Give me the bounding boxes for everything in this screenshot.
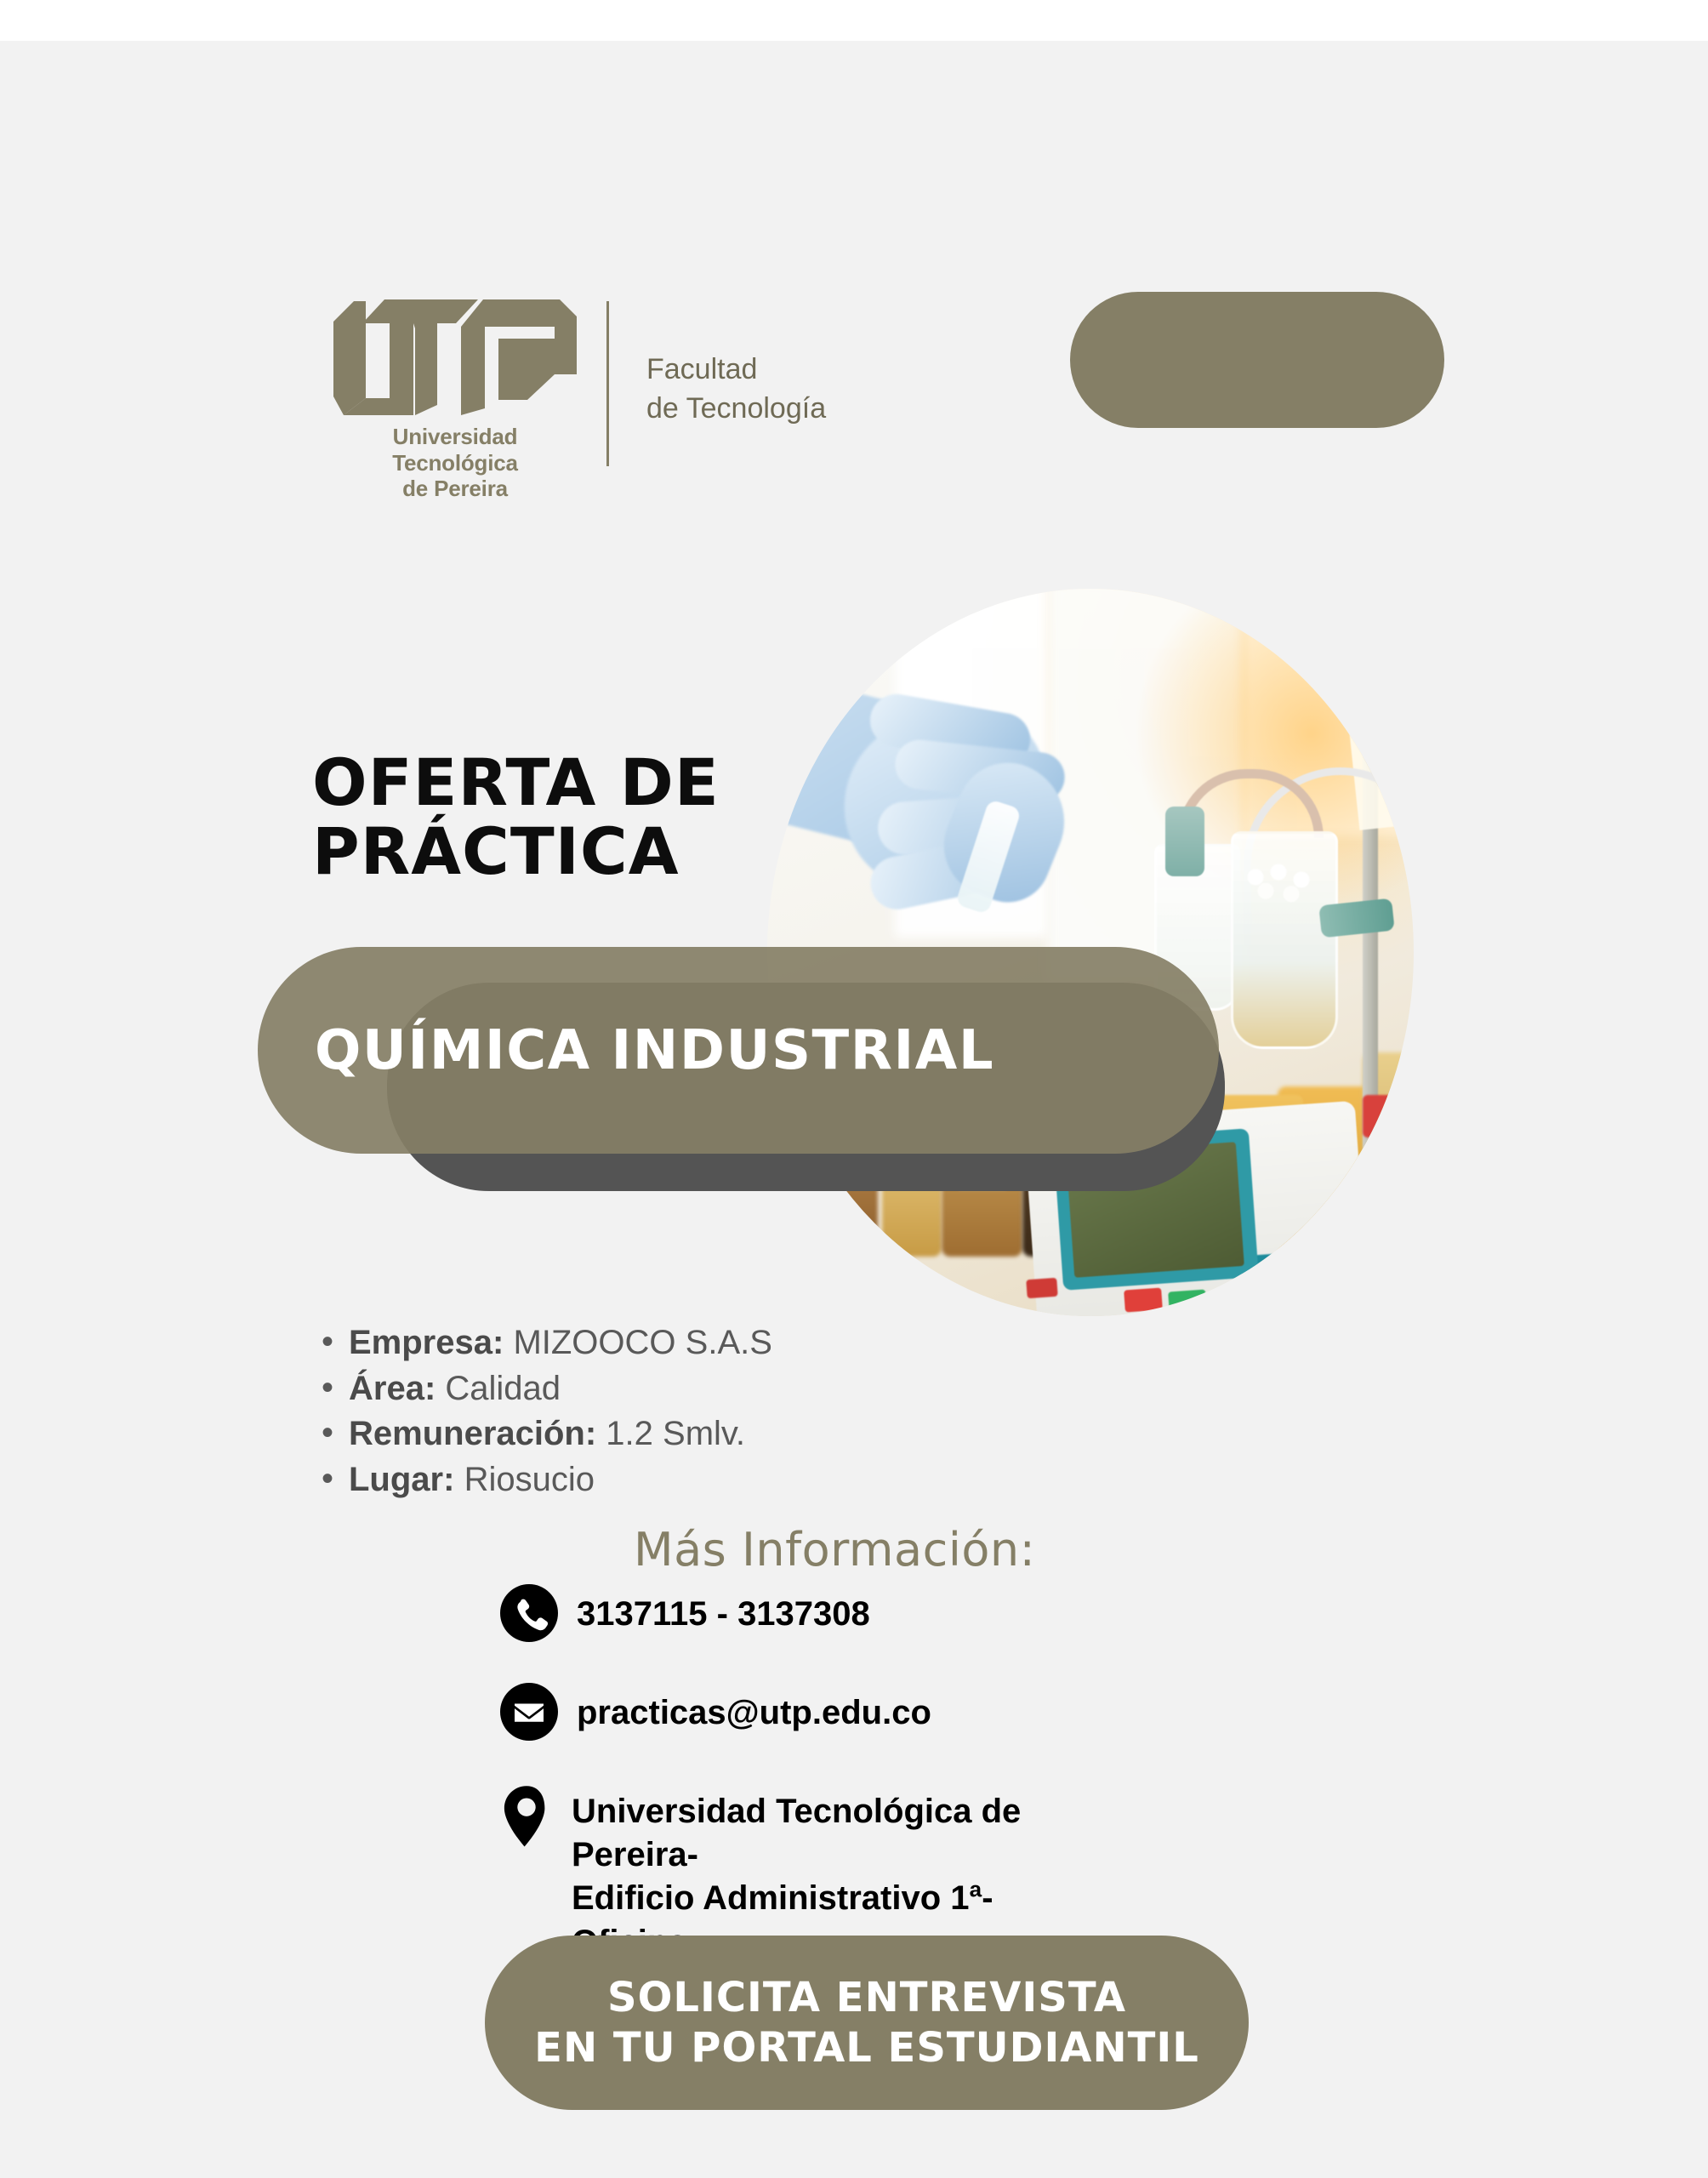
headline-line1: OFERTA DE: [312, 749, 720, 818]
poster-canvas: Universidad Tecnológica de Pereira Facul…: [0, 0, 1708, 2178]
email-icon: [500, 1683, 558, 1741]
list-item: Remuneración: 1.2 Smlv.: [316, 1411, 772, 1457]
program-banner: QUÍMICA INDUSTRIAL: [258, 947, 1219, 1154]
contact-row-phone[interactable]: 3137115 - 3137308: [500, 1584, 1099, 1642]
detail-label: Empresa:: [349, 1324, 504, 1361]
utp-subtitle-line1: Universidad Tecnológica: [327, 424, 583, 476]
request-interview-button[interactable]: SOLICITA ENTREVISTA EN TU PORTAL ESTUDIA…: [485, 1936, 1249, 2110]
utp-logo-subtitle: Universidad Tecnológica de Pereira: [327, 424, 583, 502]
logo-divider: [606, 301, 609, 466]
phone-icon: [500, 1584, 558, 1642]
address-line1: Universidad Tecnológica de Pereira-: [572, 1790, 1099, 1877]
utp-subtitle-line2: de Pereira: [327, 476, 583, 502]
list-item: Área: Calidad: [316, 1366, 772, 1412]
faculty-line1: Facultad: [646, 351, 826, 390]
cta-label: SOLICITA ENTREVISTA EN TU PORTAL ESTUDIA…: [534, 1973, 1199, 2073]
detail-label: Lugar:: [349, 1461, 454, 1498]
detail-value: Calidad: [445, 1370, 561, 1407]
utp-logo-block: Universidad Tecnológica de Pereira Facul…: [327, 298, 826, 502]
detail-value: Riosucio: [464, 1461, 595, 1498]
headline-line2: PRÁCTICA: [312, 818, 720, 887]
cta-line2: EN TU PORTAL ESTUDIANTIL: [534, 2023, 1199, 2073]
top-white-strip: [0, 0, 1708, 41]
location-pin-icon: [500, 1785, 553, 1850]
offer-details-list: Empresa: MIZOOCO S.A.S Área: Calidad Rem…: [316, 1320, 772, 1502]
cta-line1: SOLICITA ENTREVISTA: [534, 1973, 1199, 2023]
detail-label: Área:: [349, 1370, 436, 1407]
detail-value: MIZOOCO S.A.S: [513, 1324, 771, 1361]
decorative-olive-pill: [1070, 292, 1444, 428]
instrument-button-stop: [1124, 1287, 1163, 1312]
more-info-heading: Más Información:: [634, 1523, 1035, 1576]
contact-row-email[interactable]: practicas@utp.edu.co: [500, 1683, 1099, 1741]
lab-beads: [1240, 859, 1325, 910]
detail-label: Remuneración:: [349, 1415, 596, 1452]
phone-number: 3137115 - 3137308: [577, 1584, 870, 1636]
list-item: Empresa: MIZOOCO S.A.S: [316, 1320, 772, 1366]
utp-logo-icon: [332, 298, 578, 415]
faculty-line2: de Tecnología: [646, 390, 826, 429]
instrument-teal-panel: [1241, 1244, 1414, 1316]
page-title: OFERTA DE PRÁCTICA: [312, 749, 720, 886]
email-address: practicas@utp.edu.co: [577, 1683, 931, 1735]
utp-logo-left: Universidad Tecnológica de Pereira: [327, 298, 583, 502]
instrument-button-red: [1026, 1278, 1057, 1298]
faculty-name: Facultad de Tecnología: [646, 351, 826, 429]
instrument-red-clip: [1363, 1095, 1397, 1137]
list-item: Lugar: Riosucio: [316, 1457, 772, 1503]
instrument-button-start: [1168, 1289, 1207, 1314]
program-banner-label: QUÍMICA INDUSTRIAL: [315, 1019, 994, 1082]
detail-value: 1.2 Smlv.: [606, 1415, 745, 1452]
lab-teal-cap: [1165, 807, 1204, 876]
